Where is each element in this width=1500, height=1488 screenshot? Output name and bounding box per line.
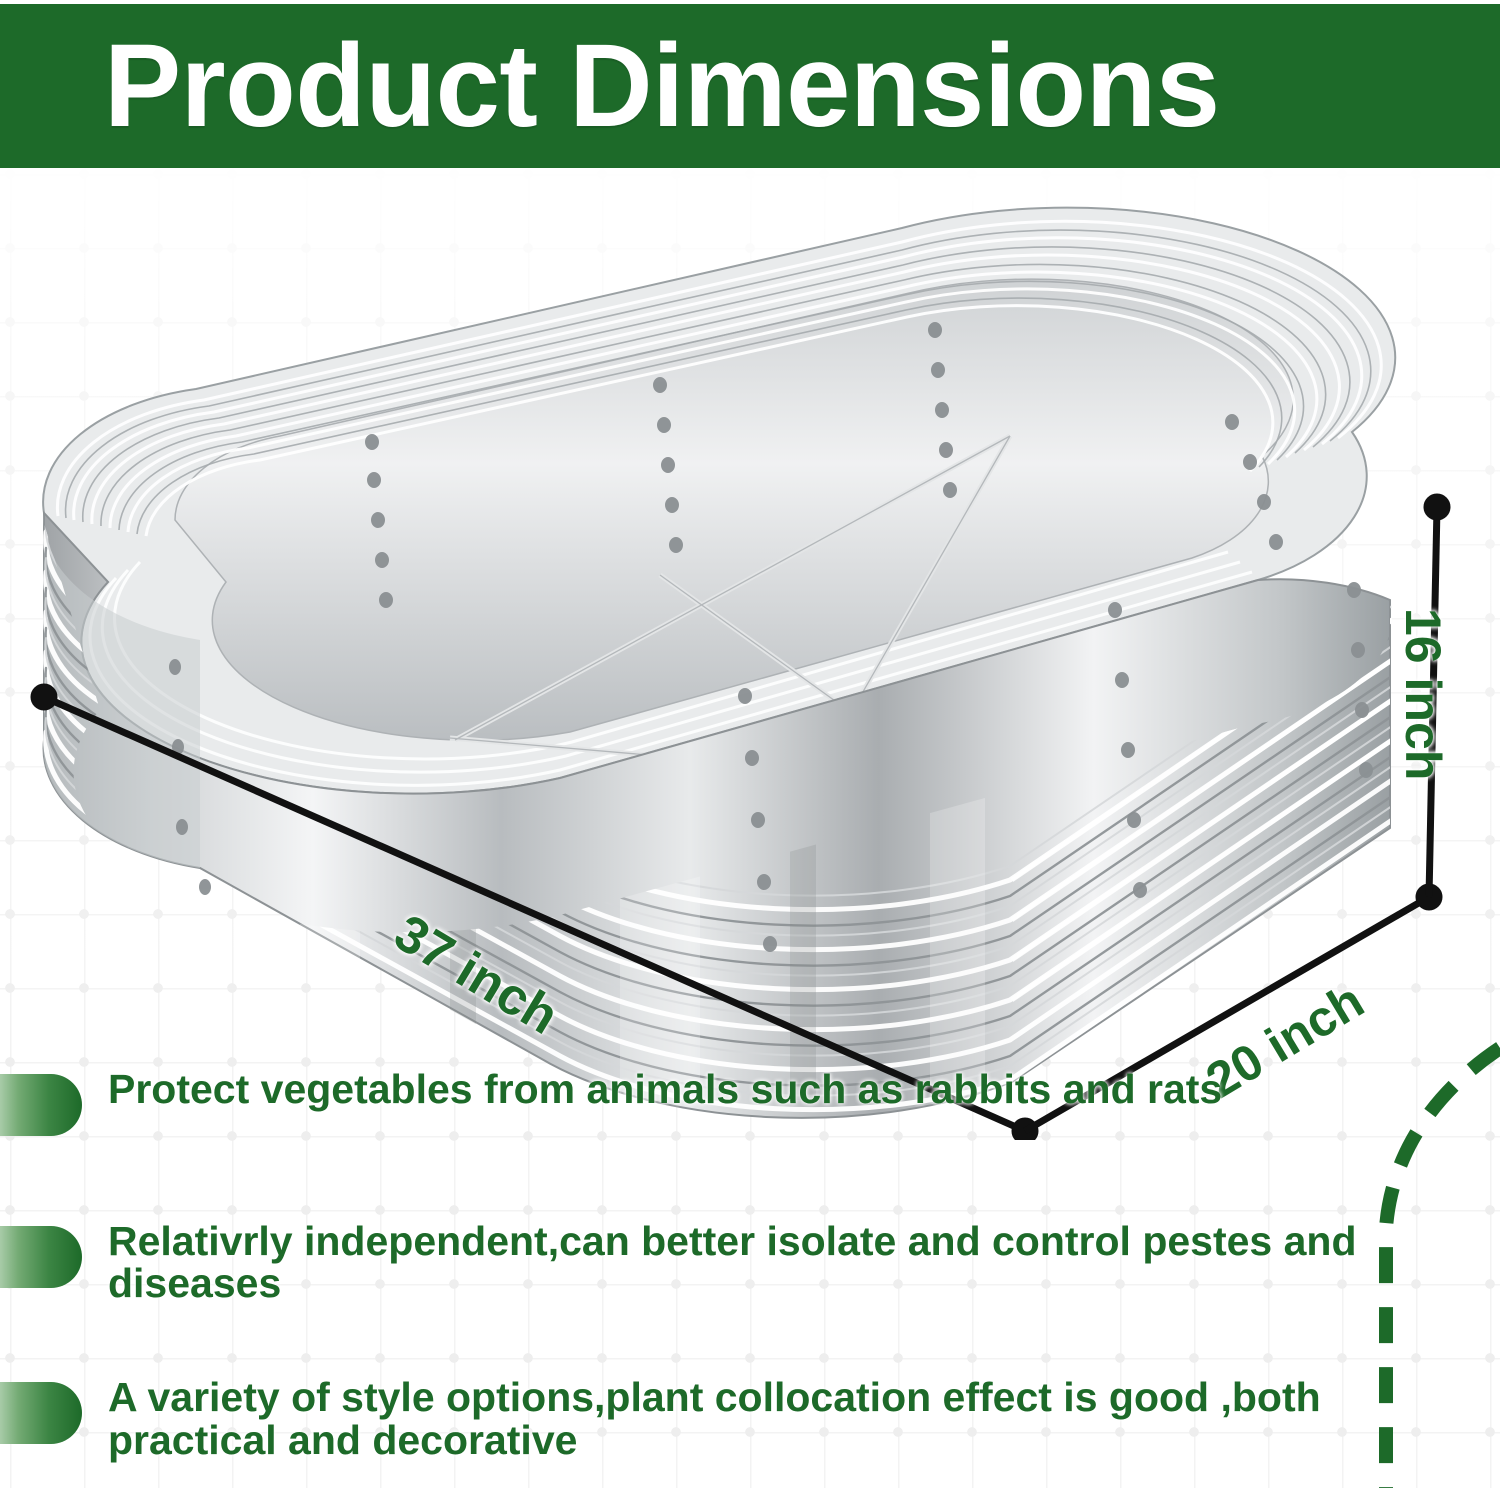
feature-item: A variety of style options,plant colloca… — [0, 1376, 1420, 1460]
product-dimensions-infographic: Product Dimensions — [0, 0, 1500, 1488]
garden-bed-side-wall — [44, 322, 1392, 1118]
garden-bed-top-opening — [43, 208, 1395, 810]
product-illustration — [0, 180, 1500, 1140]
page-title: Product Dimensions — [104, 27, 1220, 145]
feature-item: Protect vegetables from animals such as … — [0, 1068, 1420, 1148]
rivet-marks — [169, 322, 1373, 952]
dimension-label-height: 16 inch — [1394, 608, 1452, 780]
feature-text: Relativrly independent,can better isolat… — [108, 1220, 1408, 1304]
bullet-pill-icon — [0, 1226, 82, 1288]
bullet-pill-icon — [0, 1382, 82, 1444]
header-band: Product Dimensions — [0, 4, 1500, 168]
feature-text: A variety of style options,plant colloca… — [108, 1376, 1408, 1460]
feature-text: Protect vegetables from animals such as … — [108, 1068, 1222, 1110]
feature-item: Relativrly independent,can better isolat… — [0, 1220, 1420, 1304]
feature-list: Protect vegetables from animals such as … — [0, 1068, 1420, 1461]
bullet-pill-icon — [0, 1074, 82, 1136]
dimension-label-length: 37 inch — [384, 903, 568, 1047]
